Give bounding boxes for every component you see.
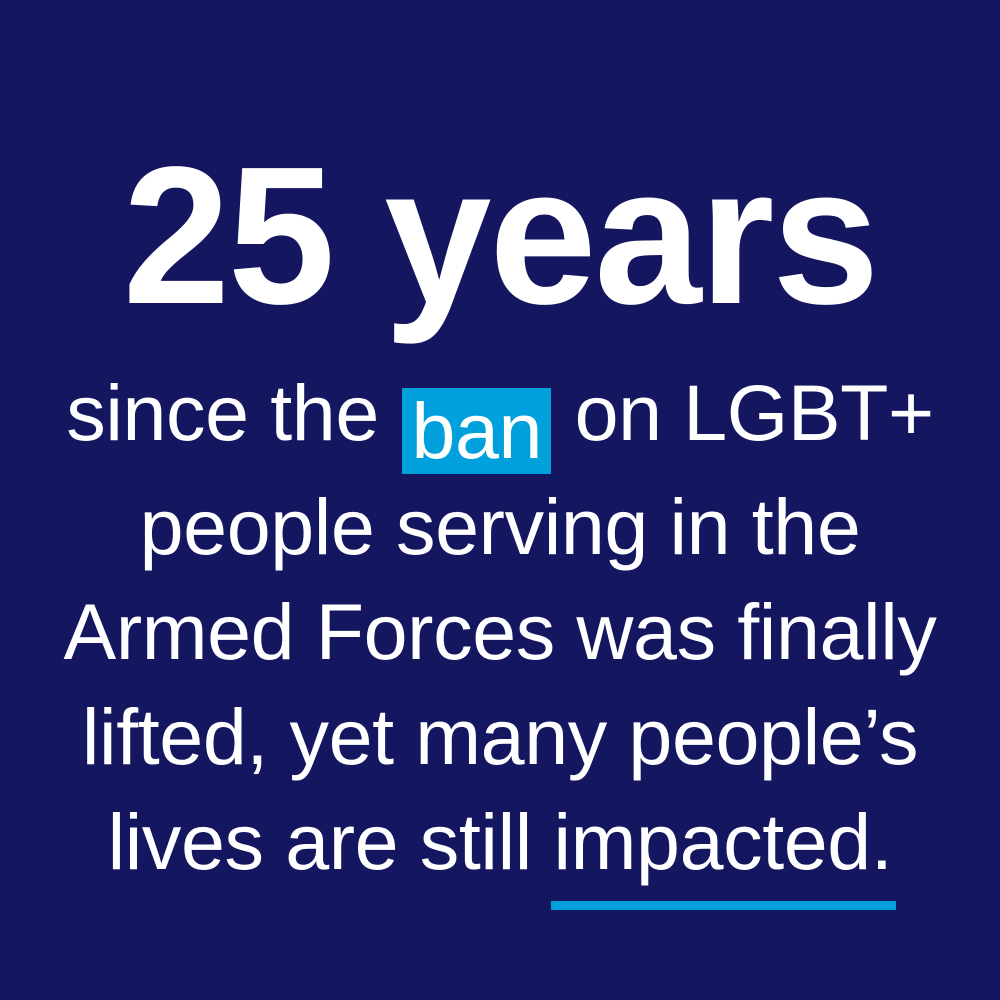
- body-line-4: lifted, yet many people’s: [0, 684, 1000, 789]
- highlighted-word-ban: ban: [402, 388, 551, 474]
- body-line-2: people serving in the: [0, 474, 1000, 579]
- content-stack: 25 years since the ban on LGBT+ people s…: [0, 0, 1000, 1000]
- page-title: 25 years: [123, 138, 877, 334]
- line-1-before: since the: [66, 368, 379, 457]
- body-copy: since the ban on LGBT+ people serving in…: [0, 360, 1000, 894]
- body-line-5: lives are still impacted.: [0, 789, 1000, 894]
- body-line-3: Armed Forces was finally: [0, 579, 1000, 684]
- body-line-1: since the ban on LGBT+: [0, 360, 1000, 474]
- underlined-word-impacted: impacted.: [553, 789, 892, 894]
- line-5-before: lives are still: [108, 797, 532, 886]
- line-1-after: on LGBT+: [575, 368, 934, 457]
- statement-card: 25 years since the ban on LGBT+ people s…: [0, 0, 1000, 1000]
